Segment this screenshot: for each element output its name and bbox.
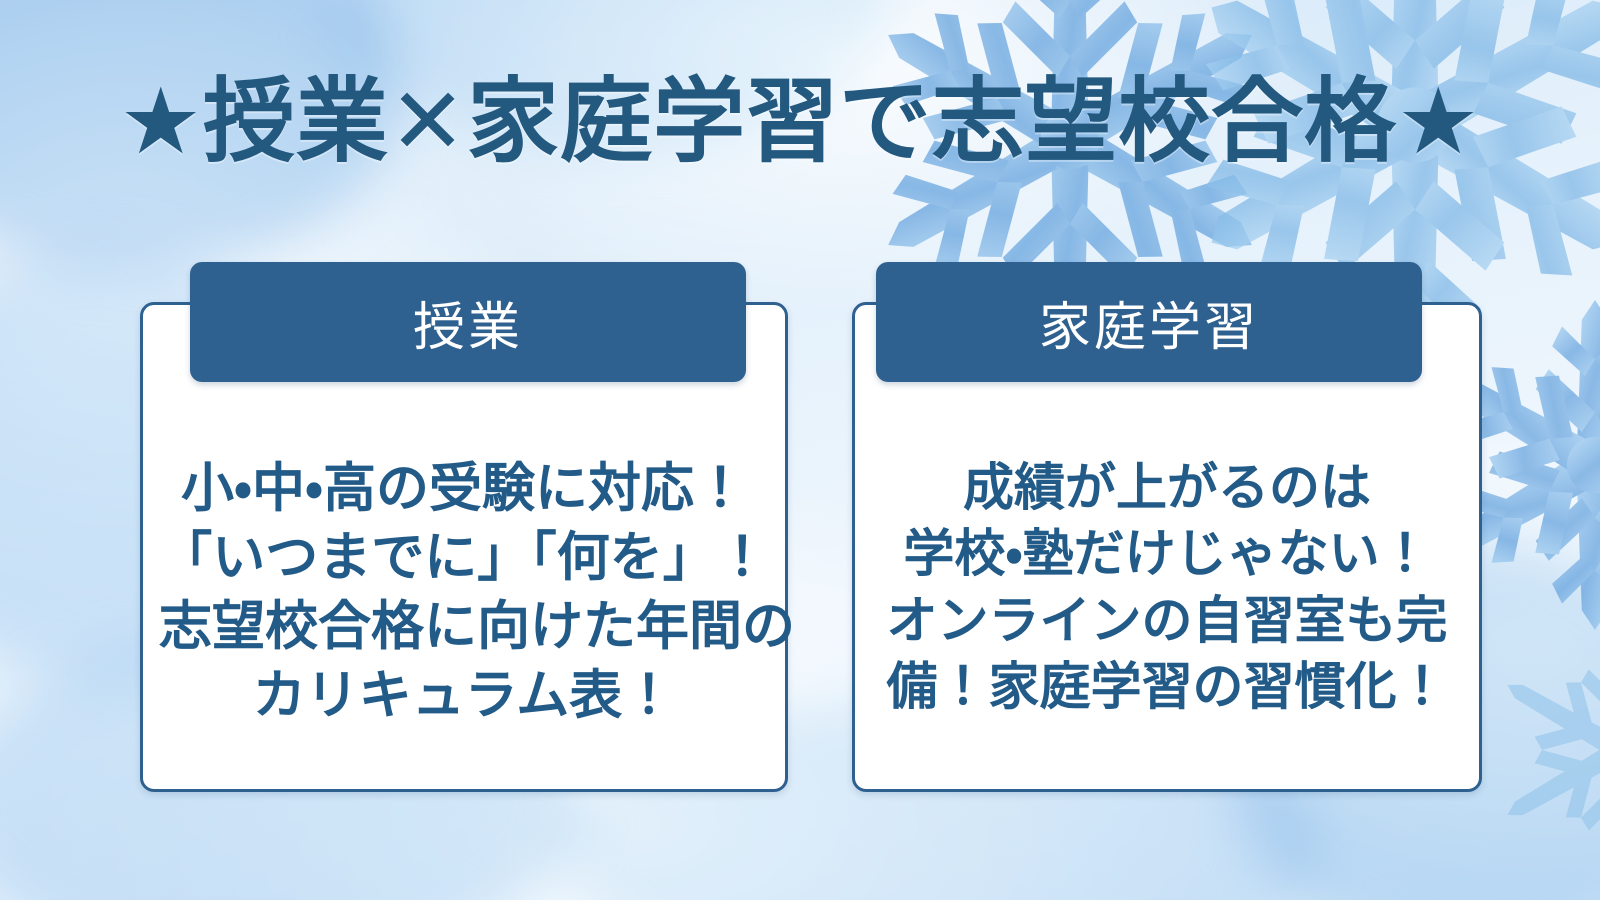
card-jugyou-line-1: 小・中・高の受験に対応！ (159, 455, 769, 524)
card-kateigakushuu-line-1: 成績が上がるのは (871, 455, 1463, 521)
card-kateigakushuu-line-4: 備！家庭学習の習慣化！ (871, 654, 1463, 720)
card-jugyou-badge-label: 授業 (413, 285, 523, 360)
card-kateigakushuu-body: 成績が上がるのは 学校・塾だけじゃない！ オンラインの自習室も完 備！家庭学習の… (855, 455, 1479, 720)
page-title: ★授業✕家庭学習で志望校合格★ (0, 76, 1600, 168)
card-kateigakushuu-line-2: 学校・塾だけじゃない！ (871, 521, 1463, 587)
card-jugyou-line-3: 志望校合格に向けた年間の (159, 593, 769, 662)
card-jugyou-line-2: 「いつまでに」「何を」！ (159, 524, 769, 593)
card-group: 小・中・高の受験に対応！ 「いつまでに」「何を」！ 志望校合格に向けた年間の カ… (0, 262, 1600, 802)
card-jugyou-line-4: カリキュラム表！ (159, 662, 769, 731)
card-kateigakushuu-line-3: オンラインの自習室も完 (871, 588, 1463, 654)
card-jugyou-body: 小・中・高の受験に対応！ 「いつまでに」「何を」！ 志望校合格に向けた年間の カ… (143, 455, 785, 731)
card-kateigakushuu-badge-label: 家庭学習 (1039, 285, 1259, 360)
card-jugyou-badge: 授業 (190, 262, 746, 382)
card-kateigakushuu-badge: 家庭学習 (876, 262, 1422, 382)
slide-canvas: ★授業✕家庭学習で志望校合格★ 小・中・高の受験に対応！ 「いつまでに」「何を」… (0, 0, 1600, 900)
